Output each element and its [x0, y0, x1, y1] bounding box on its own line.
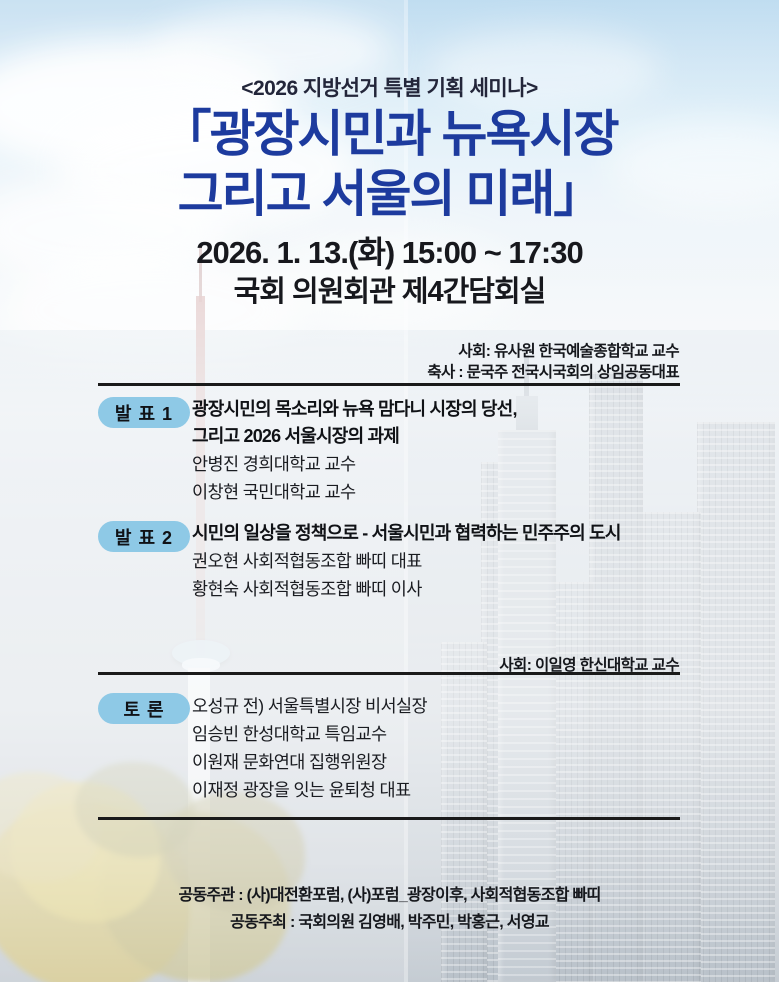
title-line-1: 「광장시민과 뉴욕시장: [0, 104, 779, 164]
session-title-line: 광장시민의 목소리와 뉴욕 맘다니 시장의 당선,: [192, 396, 699, 423]
event-venue: 국회 의원회관 제4간담회실: [0, 274, 779, 310]
title-line-2: 그리고 서울의 미래」: [0, 164, 779, 224]
session-block-presentation-1: 광장시민의 목소리와 뉴욕 맘다니 시장의 당선, 그리고 2026 서울시장의…: [192, 396, 699, 506]
session-speaker: 이창현 국민대학교 교수: [192, 478, 699, 506]
session-speaker: 권오현 사회적협동조합 빠띠 대표: [192, 547, 699, 575]
congratulatory-address-line: 축사 : 문국주 전국시국회의 상임공동대표: [427, 362, 679, 383]
event-datetime: 2026. 1. 13.(화) 15:00 ~ 17:30: [0, 234, 779, 272]
footer-co-organizer: 공동주최 : 국회의원 김영배, 박주민, 박홍근, 서영교: [0, 910, 779, 936]
divider-rule-top: [98, 383, 680, 386]
discussion-panelist: 오성규 전) 서울특별시장 비서실장: [192, 692, 699, 720]
divider-rule-bottom: [98, 817, 680, 820]
discussion-panelist: 임승빈 한성대학교 특임교수: [192, 720, 699, 748]
session-badge-presentation-2: 발 표 2: [98, 521, 190, 552]
session-speaker: 황현숙 사회적협동조합 빠띠 이사: [192, 575, 699, 603]
session-badge-discussion: 토 론: [98, 693, 190, 724]
seminar-poster: <2026 지방선거 특별 기획 세미나> 「광장시민과 뉴욕시장 그리고 서울…: [0, 0, 779, 982]
session-title-line: 시민의 일상을 정책으로 - 서울시민과 협력하는 민주주의 도시: [192, 520, 699, 547]
moderator-line-1: 사회: 유사원 한국예술종합학교 교수: [458, 341, 679, 362]
poster-kicker: <2026 지방선거 특별 기획 세미나>: [0, 72, 779, 102]
session-block-discussion: 오성규 전) 서울특별시장 비서실장 임승빈 한성대학교 특임교수 이원재 문화…: [192, 692, 699, 804]
poster-content: <2026 지방선거 특별 기획 세미나> 「광장시민과 뉴욕시장 그리고 서울…: [0, 0, 779, 982]
discussion-panelist: 이재정 광장을 잇는 윤퇴청 대표: [192, 776, 699, 804]
poster-title: 「광장시민과 뉴욕시장 그리고 서울의 미래」: [0, 104, 779, 224]
session-speaker: 안병진 경희대학교 교수: [192, 450, 699, 478]
session-title-line: 그리고 2026 서울시장의 과제: [192, 423, 699, 450]
session-block-presentation-2: 시민의 일상을 정책으로 - 서울시민과 협력하는 민주주의 도시 권오현 사회…: [192, 520, 699, 603]
footer-co-host: 공동주관 : (사)대전환포럼, (사)포럼_광장이후, 사회적협동조합 빠띠: [0, 883, 779, 909]
session-badge-presentation-1: 발 표 1: [98, 397, 190, 428]
divider-rule-middle: [98, 672, 680, 675]
discussion-panelist: 이원재 문화연대 집행위원장: [192, 748, 699, 776]
